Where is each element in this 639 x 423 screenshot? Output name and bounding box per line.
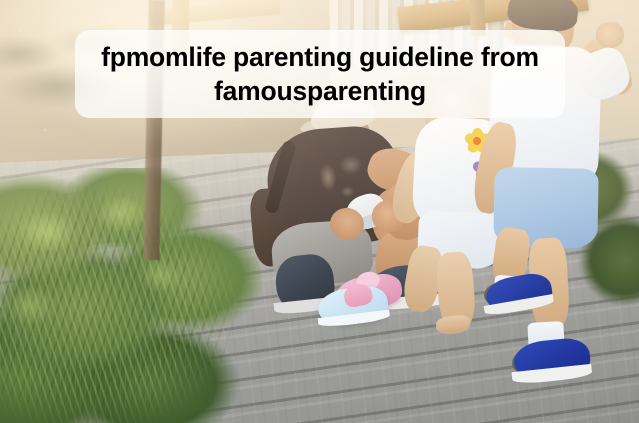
page-title: fpmomlife parenting guideline from famou…: [87, 40, 553, 108]
title-banner: fpmomlife parenting guideline from famou…: [75, 30, 565, 118]
screenshot-root: fpmomlife parenting guideline from famou…: [0, 0, 639, 423]
